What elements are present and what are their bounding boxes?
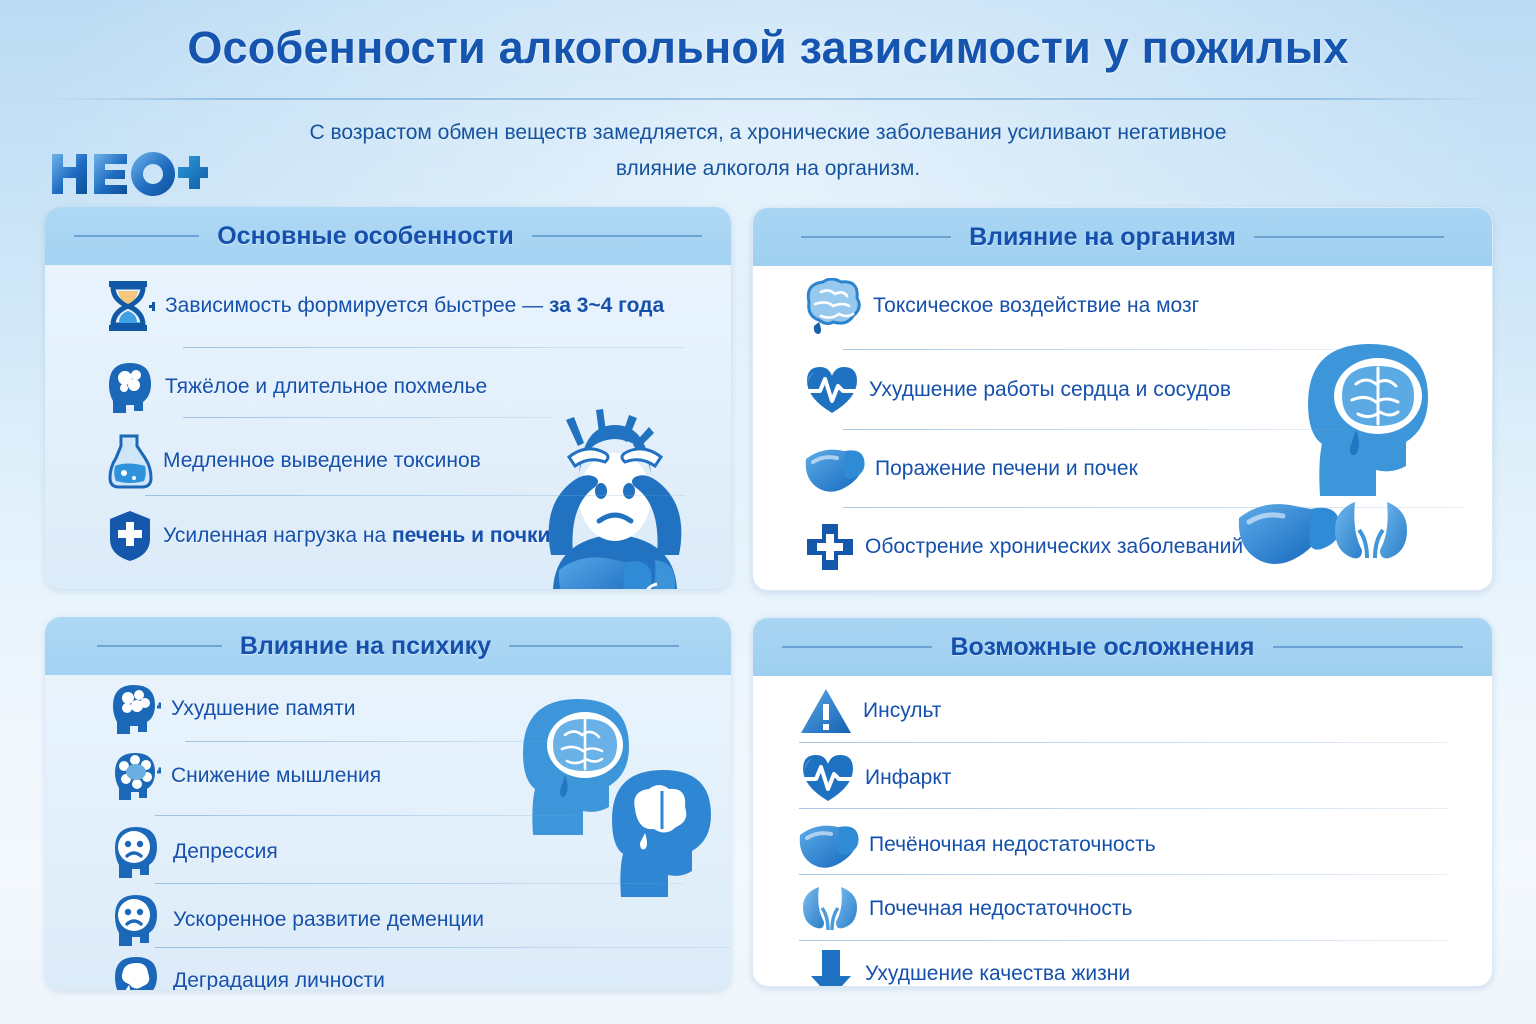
liver-icon [797, 820, 859, 870]
row-separator [843, 349, 1343, 350]
liver-kidney-icon [555, 550, 685, 589]
list-item: Инфаркт [801, 752, 951, 804]
hourglass-icon [101, 277, 155, 335]
card-title: Влияние на организм [951, 223, 1254, 252]
page-subtitle: С возрастом обмен веществ замедляется, а… [268, 115, 1268, 187]
list-item-label: Инсульт [863, 699, 941, 723]
warning-triangle-icon [799, 686, 853, 736]
heart-pulse-icon [801, 752, 855, 804]
list-item: Токсическое воздействие на мозг [801, 278, 1199, 334]
list-item-label: Усиленная нагрузка на печень и почки [163, 524, 550, 548]
list-item-label: Тяжёлое и длительное похмелье [165, 375, 487, 399]
list-item-text: Усиленная нагрузка на [163, 524, 392, 547]
card-body: Зависимость формируется быстрее — за 3~4… [45, 265, 731, 589]
header-rule-right [509, 645, 679, 647]
row-separator [843, 507, 1463, 508]
list-item: Тяжёлое и длительное похмелье [105, 361, 487, 413]
list-item-label: Ускоренное развитие деменции [173, 908, 484, 932]
card-title: Возможные осложнения [932, 633, 1272, 662]
list-item: Деградация личности [111, 955, 385, 990]
list-item-bold: печень и почки [392, 524, 550, 547]
card-header: Влияние на психику [45, 617, 731, 675]
list-item-label: Печёночная недостаточность [869, 833, 1156, 857]
list-item-label: Ухудшение памяти [171, 697, 356, 721]
head-memory-icon [109, 683, 161, 735]
list-item-label: Медленное выведение токсинов [163, 449, 481, 473]
row-separator [799, 940, 1449, 941]
head-shrinking-brain-icon [605, 757, 730, 902]
medical-cross-icon [805, 522, 855, 572]
row-separator [183, 417, 551, 418]
card-title: Влияние на психику [222, 632, 509, 661]
row-separator [185, 741, 555, 742]
list-item-label: Инфаркт [865, 766, 951, 790]
list-item: Печёночная недостаточность [797, 820, 1156, 870]
list-item: Почечная недостаточность [797, 884, 1132, 934]
list-item-label: Обострение хронических заболеваний [865, 535, 1243, 559]
list-item: Ухудшение качества жизни [807, 948, 1130, 987]
list-item-text: Зависимость формируется быстрее — [165, 294, 549, 317]
header-rule-left [782, 646, 932, 648]
list-item: Поражение печени и почек [803, 444, 1138, 494]
list-item-label: Ухудшение качества жизни [865, 962, 1130, 986]
list-item-label: Токсическое воздействие на мозг [873, 294, 1199, 318]
heart-pulse-icon [805, 364, 859, 416]
card-body-impact: Влияние на организм [752, 207, 1493, 591]
card-complications: Возможные осложнения Инсульт [752, 617, 1493, 987]
card-title: Основные особенности [199, 222, 532, 251]
neo-plus-logo [48, 148, 208, 200]
list-item-bold: за 3~4 года [549, 294, 664, 317]
title-divider [45, 98, 1491, 100]
row-separator [145, 495, 685, 496]
list-item-label: Снижение мышления [171, 764, 381, 788]
list-item-label: Деградация личности [173, 969, 385, 990]
list-item: Ухудшение работы сердца и сосудов [805, 364, 1231, 416]
list-item: Зависимость формируется быстрее — за 3~4… [101, 277, 664, 335]
list-item: Снижение мышления [111, 751, 381, 801]
list-item: Медленное выведение токсинов [107, 433, 481, 489]
list-item: Обострение хронических заболеваний [805, 522, 1243, 572]
list-item: Депрессия [111, 825, 278, 879]
header-rule-right [532, 235, 702, 237]
list-item-label: Ухудшение работы сердца и сосудов [869, 378, 1231, 402]
headache-person-icon [525, 405, 705, 589]
list-item: Инсульт [799, 686, 941, 736]
head-degradation-icon [111, 955, 163, 990]
row-separator [799, 742, 1449, 743]
head-sad-face-icon [111, 825, 163, 879]
card-body: Токсическое воздействие на мозг Ухудшени… [753, 266, 1492, 590]
card-body: Инсульт Инфаркт [753, 676, 1492, 986]
list-item-label: Депрессия [173, 840, 278, 864]
head-brain-profile-icon [1298, 328, 1448, 501]
list-item: Ускоренное развитие деменции [111, 893, 484, 947]
list-item-label: Почечная недостаточность [869, 897, 1132, 921]
row-separator [155, 815, 575, 816]
down-arrow-icon [807, 948, 855, 987]
row-separator [155, 947, 731, 948]
flask-toxins-icon [107, 433, 153, 489]
card-header: Влияние на организм [753, 208, 1492, 266]
head-cogs-icon [111, 751, 161, 801]
header-rule-left [801, 236, 951, 238]
row-separator [155, 883, 685, 884]
list-item: Усиленная нагрузка на печень и почки [107, 509, 550, 563]
row-separator [799, 808, 1449, 809]
card-psyche-impact: Влияние на психику [45, 617, 731, 990]
header-rule-left [97, 645, 222, 647]
row-separator [843, 429, 1343, 430]
infographic-page: Особенности алкогольной зависимости у по… [0, 0, 1536, 1024]
head-hangover-icon [105, 361, 155, 413]
head-dementia-icon [111, 893, 163, 947]
card-header: Основные особенности [45, 207, 731, 265]
header-rule-left [74, 235, 199, 237]
list-item: Ухудшение памяти [109, 683, 356, 735]
header-rule-right [1254, 236, 1444, 238]
card-header: Возможные осложнения [753, 618, 1492, 676]
row-separator [183, 347, 685, 348]
brain-icon [801, 278, 863, 334]
row-separator [799, 874, 1449, 875]
head-brain-profile-icon [515, 685, 645, 840]
list-item-label: Поражение печени и почек [875, 457, 1138, 481]
page-title: Особенности алкогольной зависимости у по… [0, 22, 1536, 74]
card-main-features: Основные особенности [45, 207, 731, 589]
liver-icon [803, 444, 865, 494]
kidneys-icon [797, 884, 859, 934]
shield-cross-icon [107, 509, 153, 563]
card-body: Ухудшение памяти Снижение мышления [45, 675, 731, 990]
list-item-label: Зависимость формируется быстрее — за 3~4… [165, 294, 664, 318]
header-rule-right [1273, 646, 1463, 648]
